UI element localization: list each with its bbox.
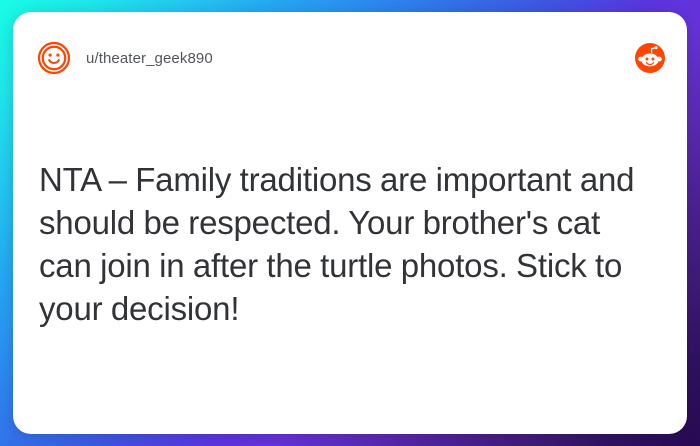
- screenshot-root: u/theater_geek890: [0, 0, 700, 446]
- smiley-face-avatar-icon[interactable]: [37, 41, 71, 75]
- card-header: u/theater_geek890: [13, 12, 687, 104]
- reddit-snoo-logo-icon[interactable]: [635, 43, 665, 73]
- comment-text: NTA – Family traditions are important an…: [39, 158, 659, 330]
- username-label: u/theater_geek890: [86, 50, 213, 67]
- reddit-comment-card: u/theater_geek890: [13, 12, 687, 434]
